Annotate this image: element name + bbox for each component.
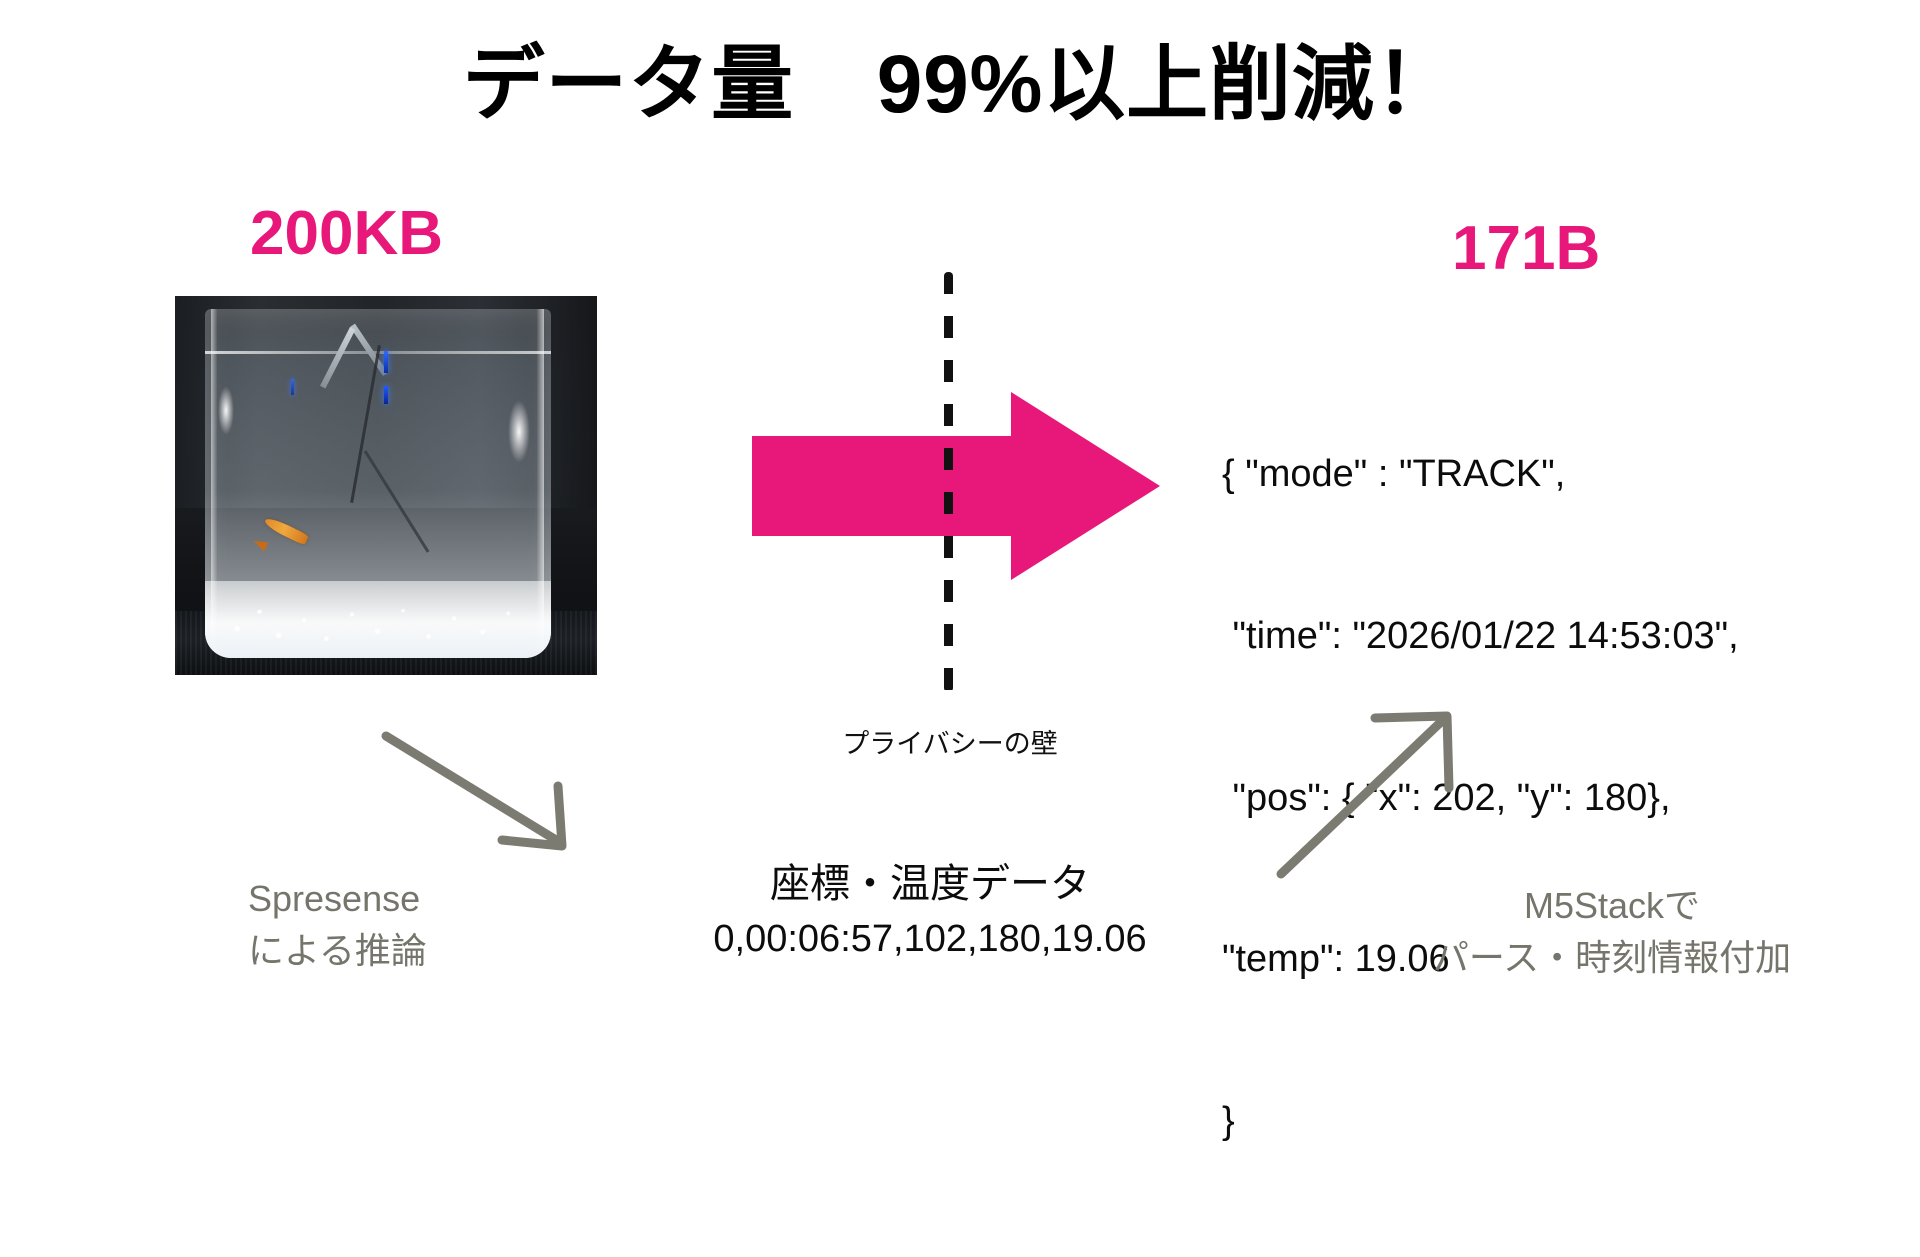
right-caption: M5Stackで パース・時刻情報付加 — [1402, 880, 1822, 984]
json-line: { "mode" : "TRACK", — [1222, 448, 1739, 502]
privacy-wall-label: プライバシーの壁 — [740, 722, 1160, 761]
center-data-block: 座標・温度データ 0,00:06:57,102,180,19.06 — [640, 858, 1220, 965]
slide-canvas: データ量 99%以上削減！ 200KB — [0, 0, 1920, 1080]
pink-right-arrow-icon — [752, 392, 1160, 580]
left-caption: Spresense による推論 — [248, 873, 578, 977]
gray-arrow-up-right-icon — [1275, 710, 1475, 880]
center-data-title: 座標・温度データ — [640, 858, 1220, 910]
gray-arrow-down-right-icon — [380, 730, 610, 860]
center-data-csv: 0,00:06:57,102,180,19.06 — [640, 914, 1220, 965]
fish-tank-photo — [175, 296, 597, 675]
privacy-wall-dashed-line — [944, 272, 953, 692]
right-size-badge: 171B — [1452, 218, 1600, 280]
left-size-badge: 200KB — [250, 203, 443, 265]
page-title: データ量 99%以上削減！ — [0, 40, 1920, 130]
json-line: "time": "2026/01/22 14:53:03", — [1222, 610, 1739, 664]
json-line: } — [1222, 1095, 1739, 1149]
